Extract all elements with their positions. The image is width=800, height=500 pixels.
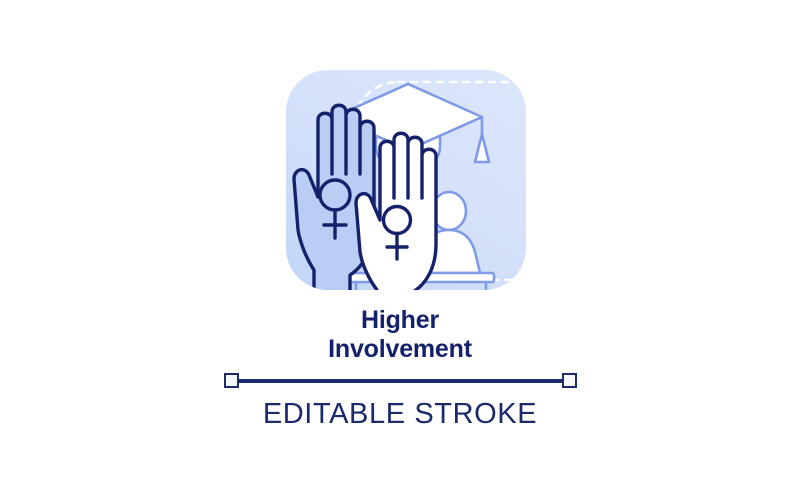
editable-stroke-caption: EDITABLE STROKE (0, 398, 800, 431)
stroke-divider (224, 373, 577, 389)
illustration-canvas: Higher Involvement EDITABLE STROKE (0, 0, 800, 500)
concept-title: Higher Involvement (0, 306, 800, 364)
divider-line (232, 379, 569, 383)
divider-handle-left[interactable] (224, 373, 239, 388)
divider-handle-right[interactable] (562, 373, 577, 388)
concept-title-line-2: Involvement (0, 335, 800, 364)
concept-title-line-1: Higher (0, 306, 800, 335)
concept-illustration (286, 70, 526, 290)
